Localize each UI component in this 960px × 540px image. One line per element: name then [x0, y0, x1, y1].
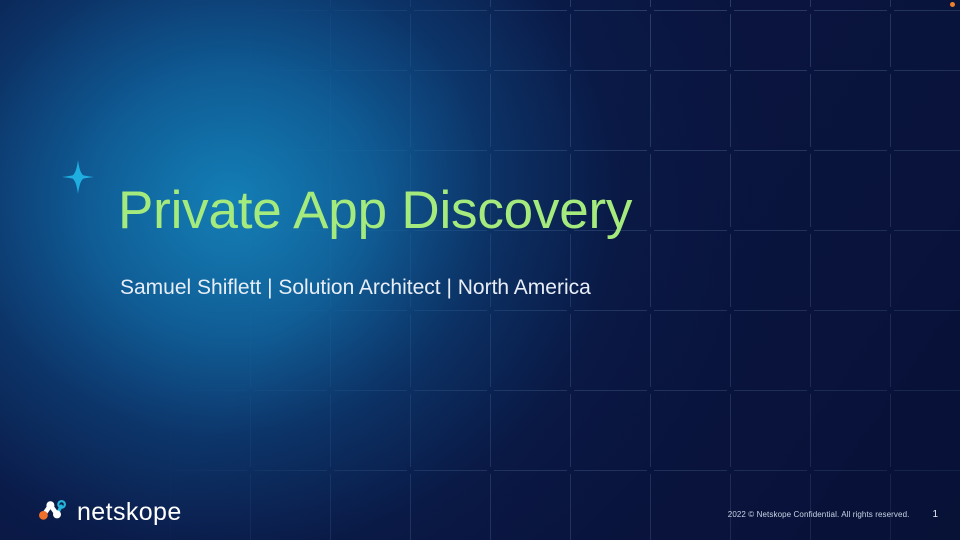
netskope-molecule-logo-icon	[38, 499, 68, 526]
presentation-slide: Private App Discovery Samuel Shiflett | …	[0, 0, 960, 540]
sparkle-plus-icon	[62, 160, 94, 194]
page-title: Private App Discovery	[118, 181, 632, 240]
orange-dot-icon	[950, 2, 955, 7]
slide-subtitle: Samuel Shiflett | Solution Architect | N…	[120, 275, 591, 300]
netskope-logo: netskope	[38, 498, 182, 527]
slide-footer: 2022 © Netskope Confidential. All rights…	[728, 509, 938, 520]
page-number: 1	[932, 509, 938, 520]
netskope-wordmark: netskope	[77, 498, 182, 527]
background-vignette	[0, 0, 960, 540]
copyright-text: 2022 © Netskope Confidential. All rights…	[728, 510, 910, 519]
